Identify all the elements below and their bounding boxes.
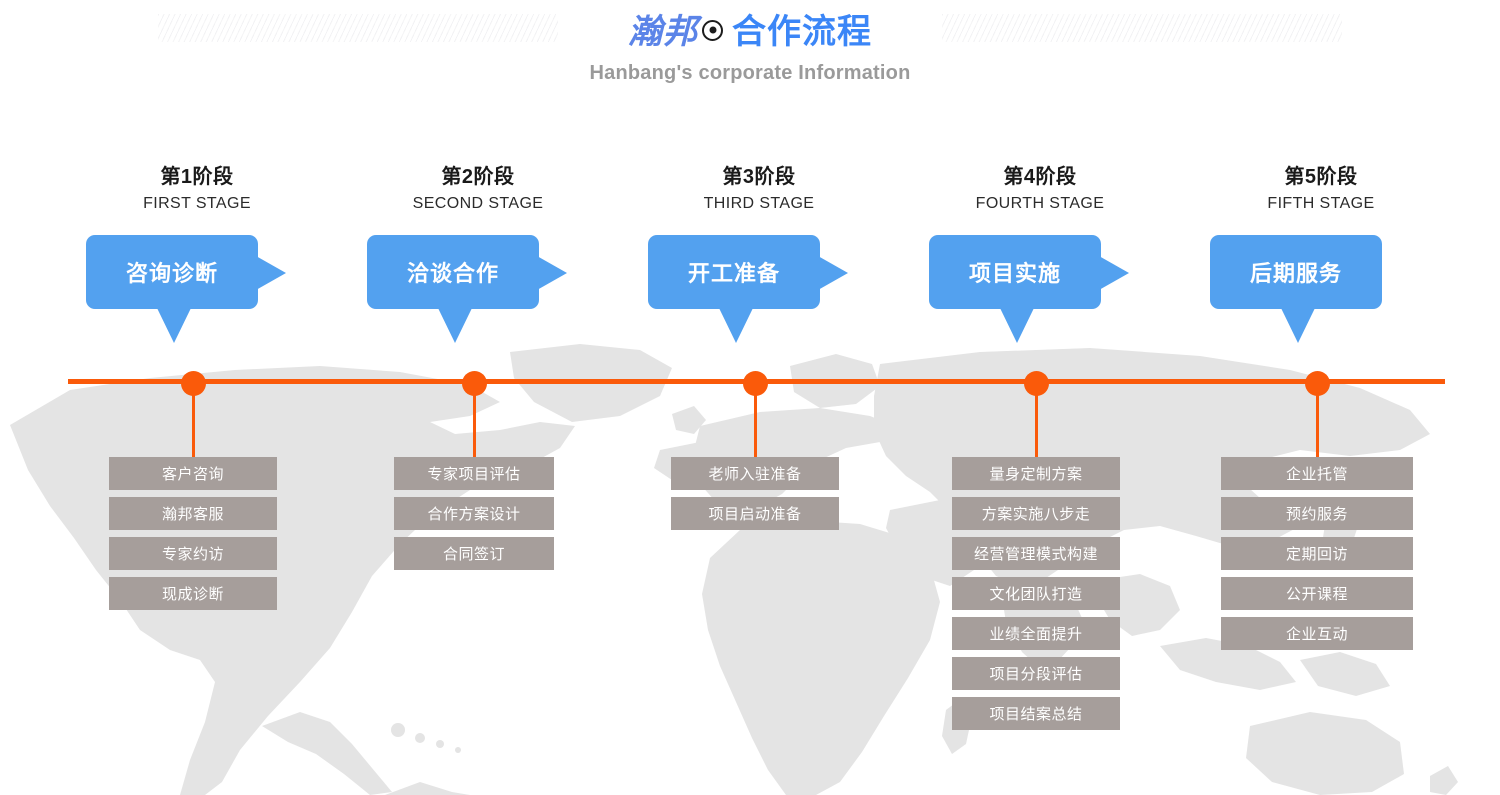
- stage-item-list-5: 企业托管预约服务定期回访公开课程企业互动: [1221, 457, 1413, 650]
- stage-heading-3: 第3阶段THIRD STAGE: [619, 160, 899, 213]
- stage-heading-4: 第4阶段FOURTH STAGE: [900, 160, 1180, 213]
- list-item[interactable]: 项目启动准备: [671, 497, 839, 530]
- list-item[interactable]: 合作方案设计: [394, 497, 554, 530]
- badge-pointer-down-icon: [438, 308, 472, 343]
- stage-heading-5: 第5阶段FIFTH STAGE: [1181, 160, 1461, 213]
- stage-badge-wrap-4: 项目实施: [900, 235, 1180, 345]
- stage-label-cn: 第2阶段: [338, 160, 618, 189]
- hatch-decoration-left: [158, 14, 558, 42]
- stage-item-list-1: 客户咨询瀚邦客服专家约访现成诊断: [109, 457, 277, 610]
- stage-badge-1[interactable]: 咨询诊断: [86, 235, 258, 309]
- badge-arrow-right-icon: [256, 256, 286, 290]
- stage-column-1: 第1阶段FIRST STAGE咨询诊断: [57, 160, 337, 345]
- timeline-connector-3: [754, 384, 757, 462]
- stage-item-list-2: 专家项目评估合作方案设计合同签订: [394, 457, 554, 570]
- list-item[interactable]: 专家项目评估: [394, 457, 554, 490]
- stage-label-cn: 第3阶段: [619, 160, 899, 189]
- timeline-connector-4: [1035, 384, 1038, 462]
- stage-label-cn: 第1阶段: [57, 160, 337, 189]
- stage-label-en: FIRST STAGE: [57, 195, 337, 213]
- timeline-connector-2: [473, 384, 476, 462]
- brand-name: 瀚邦: [628, 4, 698, 53]
- stage-badge-wrap-3: 开工准备: [619, 235, 899, 345]
- list-item[interactable]: 企业托管: [1221, 457, 1413, 490]
- badge-arrow-right-icon: [818, 256, 848, 290]
- stage-column-3: 第3阶段THIRD STAGE开工准备: [619, 160, 899, 345]
- list-item[interactable]: 公开课程: [1221, 577, 1413, 610]
- badge-pointer-down-icon: [719, 308, 753, 343]
- title-row: 瀚邦 合作流程: [0, 0, 1500, 56]
- stage-label-en: THIRD STAGE: [619, 195, 899, 213]
- stage-label-en: FIFTH STAGE: [1181, 195, 1461, 213]
- stage-badge-3[interactable]: 开工准备: [648, 235, 820, 309]
- stage-badge-4[interactable]: 项目实施: [929, 235, 1101, 309]
- stage-heading-2: 第2阶段SECOND STAGE: [338, 160, 618, 213]
- page-subtitle: Hanbang's corporate Information: [0, 62, 1500, 85]
- stage-label-cn: 第4阶段: [900, 160, 1180, 189]
- stage-label-en: SECOND STAGE: [338, 195, 618, 213]
- stage-label-cn: 第5阶段: [1181, 160, 1461, 189]
- list-item[interactable]: 量身定制方案: [952, 457, 1120, 490]
- stage-column-2: 第2阶段SECOND STAGE洽谈合作: [338, 160, 618, 345]
- list-item[interactable]: 项目分段评估: [952, 657, 1120, 690]
- stage-heading-1: 第1阶段FIRST STAGE: [57, 160, 337, 213]
- timeline-connector-5: [1316, 384, 1319, 462]
- stage-badge-wrap-1: 咨询诊断: [57, 235, 337, 345]
- list-item[interactable]: 项目结案总结: [952, 697, 1120, 730]
- registered-circle-icon: [702, 20, 723, 41]
- stage-badge-wrap-5: 后期服务: [1181, 235, 1461, 345]
- list-item[interactable]: 客户咨询: [109, 457, 277, 490]
- badge-pointer-down-icon: [157, 308, 191, 343]
- list-item[interactable]: 专家约访: [109, 537, 277, 570]
- stage-item-list-3: 老师入驻准备项目启动准备: [671, 457, 839, 530]
- list-item[interactable]: 企业互动: [1221, 617, 1413, 650]
- stage-item-list-4: 量身定制方案方案实施八步走经营管理模式构建文化团队打造业绩全面提升项目分段评估项…: [952, 457, 1120, 730]
- stage-column-4: 第4阶段FOURTH STAGE项目实施: [900, 160, 1180, 345]
- list-item[interactable]: 瀚邦客服: [109, 497, 277, 530]
- page-title: 瀚邦 合作流程: [612, 4, 888, 53]
- badge-pointer-down-icon: [1000, 308, 1034, 343]
- badge-arrow-right-icon: [537, 256, 567, 290]
- timeline-connector-1: [192, 384, 195, 462]
- list-item[interactable]: 经营管理模式构建: [952, 537, 1120, 570]
- list-item[interactable]: 现成诊断: [109, 577, 277, 610]
- hatch-decoration-right: [942, 14, 1342, 42]
- list-item[interactable]: 业绩全面提升: [952, 617, 1120, 650]
- infographic-canvas: 瀚邦 合作流程 Hanbang's corporate Information …: [0, 0, 1500, 795]
- stage-label-en: FOURTH STAGE: [900, 195, 1180, 213]
- list-item[interactable]: 文化团队打造: [952, 577, 1120, 610]
- stage-badge-2[interactable]: 洽谈合作: [367, 235, 539, 309]
- badge-pointer-down-icon: [1281, 308, 1315, 343]
- stage-badge-5[interactable]: 后期服务: [1210, 235, 1382, 309]
- page-title-text: 合作流程: [732, 4, 872, 53]
- stage-column-5: 第5阶段FIFTH STAGE后期服务: [1181, 160, 1461, 345]
- list-item[interactable]: 定期回访: [1221, 537, 1413, 570]
- badge-arrow-right-icon: [1099, 256, 1129, 290]
- list-item[interactable]: 合同签订: [394, 537, 554, 570]
- stage-badge-wrap-2: 洽谈合作: [338, 235, 618, 345]
- list-item[interactable]: 老师入驻准备: [671, 457, 839, 490]
- page-header: 瀚邦 合作流程 Hanbang's corporate Information: [0, 0, 1500, 85]
- list-item[interactable]: 预约服务: [1221, 497, 1413, 530]
- list-item[interactable]: 方案实施八步走: [952, 497, 1120, 530]
